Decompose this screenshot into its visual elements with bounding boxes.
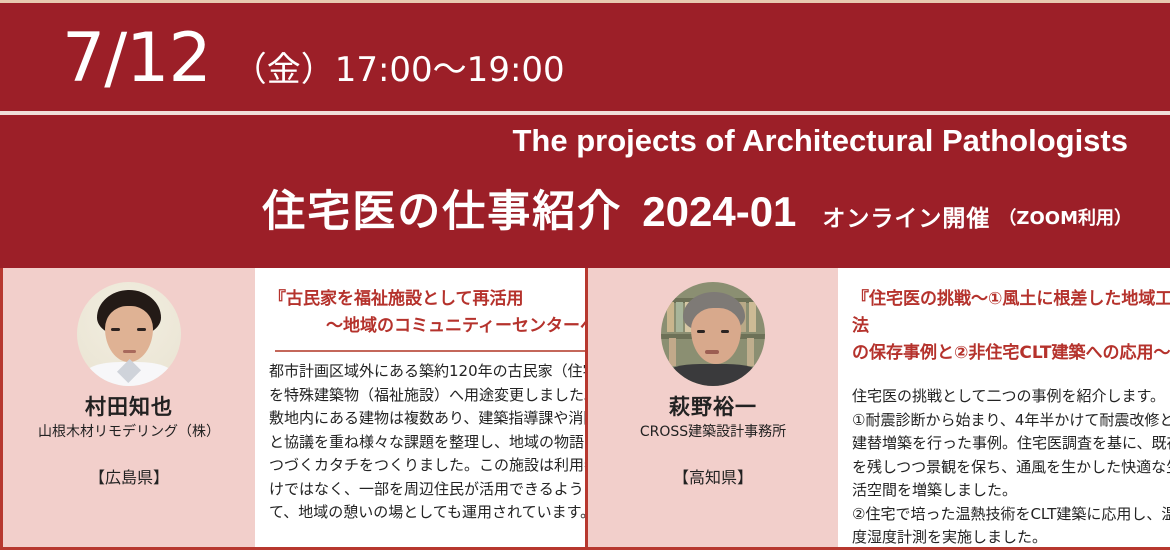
avatar-face: [105, 306, 153, 362]
page-title: 住宅医の仕事紹介: [262, 189, 622, 235]
speaker-photo-hagino: [661, 282, 765, 386]
talk-description-line: ②住宅で培った温熱技術をCLT建築に応用し、温: [852, 503, 1170, 527]
talk-description-line: つづくカタチをつくりました。この施設は利用者だ: [269, 454, 614, 478]
avatar-eye-left: [697, 330, 705, 333]
talk-description-line: 度湿度計測を実施しました。: [852, 526, 1170, 550]
speaker-prefecture: 【高知県】: [673, 468, 753, 488]
avatar-bg-book: [676, 302, 683, 332]
talk-description-line: を残しつつ景観を保ち、通風を生かした快適な生: [852, 456, 1170, 480]
event-date-detail: （金）17:00〜19:00: [233, 53, 565, 91]
avatar-bg-book: [667, 302, 674, 332]
zoom-label: （ZOOM利用）: [998, 203, 1132, 235]
avatar-eye-right: [137, 328, 146, 331]
talk-description-line: 住宅医の挑戦として二つの事例を紹介します。: [852, 385, 1170, 409]
speaker-photo-murata: [77, 282, 181, 386]
talk-description-line: 活空間を増築しました。: [852, 479, 1170, 503]
speakers-row: 村田知也 山根木材リモデリング（株） 【広島県】 『古民家を福祉施設として再活用…: [0, 268, 1170, 550]
speaker-name: 萩野裕一: [669, 394, 757, 420]
talk-description-line: ①耐震診断から始まり、4年半かけて耐震改修と: [852, 409, 1170, 433]
avatar-bg-book: [669, 338, 676, 366]
avatar-eye-right: [721, 330, 729, 333]
speaker-panel-right: 萩野裕一 CROSS建築設計事務所 【高知県】 『住宅医の挑戦〜①風土に根差した…: [585, 268, 1170, 547]
talk-description-line: けではなく、一部を周辺住民が活用できるようにし: [269, 478, 614, 502]
avatar-bg-book: [749, 302, 756, 332]
talk-description-line: 建替増築を行った事例。住宅医調査を基に、既存: [852, 432, 1170, 456]
talk-title-line-1: 『住宅医の挑戦〜①風土に根差した地域工法: [852, 289, 1170, 336]
speaker-organization: 山根木材リモデリング（株）: [38, 422, 220, 442]
talk-description-line: 都市計画区域外にある築約120年の古民家（住宅）: [269, 360, 614, 384]
poster-header: 7/12 （金）17:00〜19:00 The projects of Arch…: [0, 0, 1170, 268]
talk-title-separator: [275, 350, 610, 352]
event-date: 7/12: [62, 25, 211, 93]
talk-title: 『古民家を福祉施設として再活用 〜地域のコミュニティーセンターへ』: [269, 286, 614, 340]
talk-title: 『住宅医の挑戦〜①風土に根差した地域工法 の保存事例と②非住宅CLT建築への応用…: [852, 286, 1170, 367]
talk-description: 都市計画区域外にある築約120年の古民家（住宅） を特殊建築物（福祉施設）へ用途…: [269, 360, 614, 525]
english-subtitle: The projects of Architectural Pathologis…: [512, 123, 1128, 159]
edition-number: 2024-01: [642, 189, 796, 235]
speaker-profile-right: 萩野裕一 CROSS建築設計事務所 【高知県】: [588, 268, 838, 547]
talk-title-line-1: 『古民家を福祉施設として再活用: [269, 289, 524, 309]
talk-title-line-2: の保存事例と②非住宅CLT建築への応用〜』: [852, 340, 1170, 367]
speaker-profile-left: 村田知也 山根木材リモデリング（株） 【広島県】: [3, 268, 255, 547]
online-label: オンライン開催: [822, 203, 990, 235]
avatar-eye-left: [111, 328, 120, 331]
seminar-poster: 7/12 （金）17:00〜19:00 The projects of Arch…: [0, 0, 1170, 550]
speaker-organization: CROSS建築設計事務所: [640, 422, 786, 442]
talk-content-right: 『住宅医の挑戦〜①風土に根差した地域工法 の保存事例と②非住宅CLT建築への応用…: [838, 268, 1170, 547]
event-date-block: 7/12 （金）17:00〜19:00: [62, 25, 565, 93]
talk-description-line: を特殊建築物（福祉施設）へ用途変更しました。: [269, 384, 614, 408]
speaker-name: 村田知也: [85, 394, 173, 420]
avatar-mouth: [123, 350, 136, 353]
talk-content-left: 『古民家を福祉施設として再活用 〜地域のコミュニティーセンターへ』 都市計画区域…: [255, 268, 626, 547]
avatar-jacket: [665, 364, 761, 386]
talk-description-line: て、地域の憩いの場としても運用されています。: [269, 501, 614, 525]
avatar-face: [691, 308, 741, 364]
speaker-prefecture: 【広島県】: [89, 468, 169, 488]
avatar-bg-book: [747, 338, 754, 366]
talk-description: 住宅医の挑戦として二つの事例を紹介します。 ①耐震診断から始まり、4年半かけて耐…: [852, 385, 1170, 550]
main-title-block: 住宅医の仕事紹介 2024-01 オンライン開催 （ZOOM利用）: [0, 189, 1132, 235]
header-divider-rule: [0, 111, 1170, 115]
avatar-mouth: [705, 350, 719, 354]
talk-description-line: 敷地内にある建物は複数あり、建築指導課や消防: [269, 407, 614, 431]
speaker-panel-left: 村田知也 山根木材リモデリング（株） 【広島県】 『古民家を福祉施設として再活用…: [0, 268, 585, 547]
talk-title-line-2: 〜地域のコミュニティーセンターへ』: [269, 313, 614, 340]
talk-description-line: と協議を重ね様々な課題を整理し、地域の物語が: [269, 431, 614, 455]
